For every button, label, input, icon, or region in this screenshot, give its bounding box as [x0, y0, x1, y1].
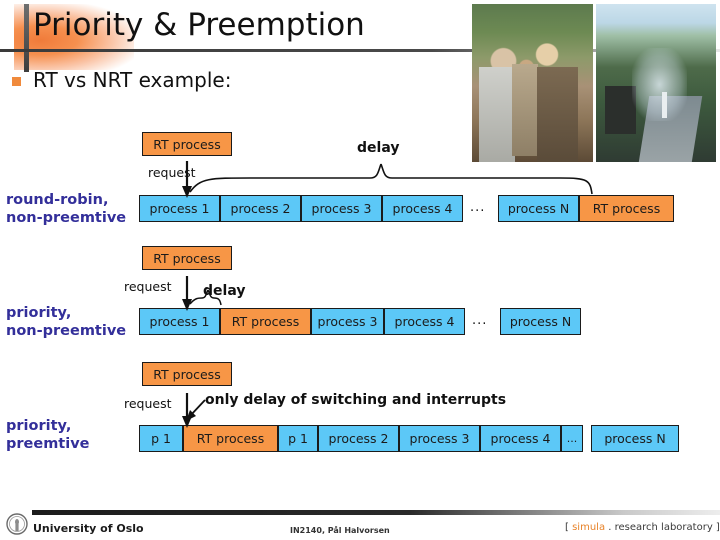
row2-cell-0: process 1: [139, 308, 220, 335]
row1-label: round-robin, non-preemtive: [6, 191, 126, 227]
photo-figure-left: [479, 67, 515, 162]
row1-cell-1: process 2: [220, 195, 301, 222]
row2-delay-label: delay: [203, 283, 245, 299]
row3-delay-pointer: [186, 400, 205, 421]
row1-cell-3: process 4: [382, 195, 463, 222]
row3-label-line1: priority,: [6, 418, 71, 434]
photo-figure-center: [512, 64, 539, 156]
row1-cell-2: process 3: [301, 195, 382, 222]
row2-request-arrow: [182, 276, 192, 311]
bullet-text: RT vs NRT example:: [33, 68, 231, 92]
brand-tagline: . research laboratory: [605, 522, 713, 533]
photo-person: [662, 92, 667, 117]
row3-cell-4: process 3: [399, 425, 480, 452]
row2-rt-process-tag: RT process: [142, 246, 232, 270]
row1-delay-label: delay: [357, 140, 399, 156]
row3-label: priority, preemtive: [6, 417, 90, 453]
row3-cell-7: process N: [591, 425, 679, 452]
row3-delay-label: only delay of switching and interrupts: [205, 392, 506, 408]
row1-request-label: request: [148, 165, 196, 180]
photo-smoke: [632, 48, 687, 121]
row3-request-arrow: [182, 393, 192, 428]
title-vertical-bar: [24, 4, 29, 72]
photo-strip: [472, 4, 716, 162]
footer-center-text: IN2140, Pål Halvorsen: [290, 526, 390, 535]
family-photo: [472, 4, 593, 162]
row3-cell-3: process 2: [318, 425, 399, 452]
brand-name: simula: [572, 522, 605, 533]
row2-cell-ellipsis: ...: [472, 313, 487, 328]
row1-cell-5: process N: [498, 195, 579, 222]
row1-cell-0: process 1: [139, 195, 220, 222]
row2-cell-3: process 4: [384, 308, 465, 335]
photo-figure-right: [537, 67, 578, 162]
row3-rt-process-tag: RT process: [142, 362, 232, 386]
row2-label-line2: non-preemtive: [6, 323, 126, 339]
row3-cell-5: process 4: [480, 425, 561, 452]
row3-label-line2: preemtive: [6, 436, 90, 452]
row1-label-line2: non-preemtive: [6, 210, 126, 226]
row3-cell-ellipsis: ...: [561, 425, 583, 452]
footer-left-text: University of Oslo: [33, 522, 144, 535]
row1-label-line1: round-robin,: [6, 192, 108, 208]
row2-cell-2: process 3: [311, 308, 384, 335]
row3-request-label: request: [124, 396, 172, 411]
row3-cell-2: p 1: [278, 425, 318, 452]
row3-cell-0: p 1: [139, 425, 183, 452]
row2-label-line1: priority,: [6, 305, 71, 321]
row2-cell-5: process N: [500, 308, 581, 335]
row1-rt-process-tag: RT process: [142, 132, 232, 156]
row1-delay-brace: [190, 164, 592, 194]
footer-divider: [32, 510, 720, 515]
footer-right-brand: [ simula . research laboratory ]: [565, 522, 720, 533]
row1-cell-6: RT process: [579, 195, 674, 222]
row3-cell-1: RT process: [183, 425, 278, 452]
row1-cell-ellipsis: ...: [470, 200, 485, 215]
road-photo: [596, 4, 717, 162]
row2-label: priority, non-preemtive: [6, 304, 126, 340]
university-seal-logo: [5, 511, 29, 537]
square-bullet-icon: [12, 77, 21, 86]
row2-cell-1: RT process: [220, 308, 311, 335]
row2-request-label: request: [124, 279, 172, 294]
brand-close-bracket: ]: [713, 522, 720, 533]
page-title: Priority & Preemption: [33, 7, 365, 43]
